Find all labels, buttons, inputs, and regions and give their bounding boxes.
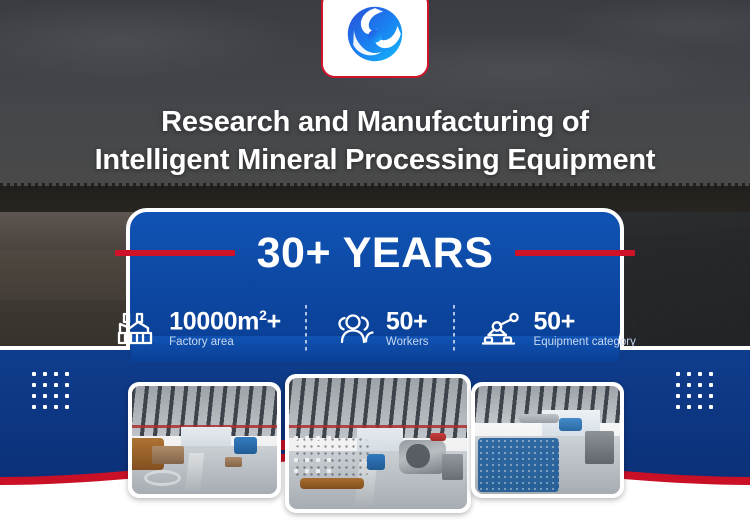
dot bbox=[698, 394, 702, 398]
workshop-photo-center[interactable] bbox=[285, 374, 471, 513]
dot bbox=[43, 405, 47, 409]
dot bbox=[65, 394, 69, 398]
years-rule-left bbox=[115, 250, 235, 256]
stat-workers-text: 50+ Workers bbox=[386, 308, 429, 350]
dot bbox=[709, 405, 713, 409]
dot bbox=[698, 383, 702, 387]
dot bbox=[54, 372, 58, 376]
workshop-photo-left[interactable] bbox=[128, 382, 281, 498]
years-banner: 30+ YEARS bbox=[0, 225, 750, 281]
dot bbox=[687, 394, 691, 398]
dot bbox=[43, 372, 47, 376]
stat-divider-1 bbox=[305, 305, 307, 353]
dot bbox=[676, 394, 680, 398]
stat-equipment-category: 50+ Equipment category bbox=[479, 308, 636, 350]
dot bbox=[676, 383, 680, 387]
dot bbox=[709, 383, 713, 387]
dot bbox=[709, 372, 713, 376]
factory-icon bbox=[114, 309, 160, 349]
dot-grid-right bbox=[676, 372, 720, 408]
stat-factory-text: 10000m2+ Factory area bbox=[169, 308, 281, 350]
stats-row: 10000m2+ Factory area 50+ Workers bbox=[0, 300, 750, 358]
dot bbox=[54, 383, 58, 387]
robot-arm-icon bbox=[479, 309, 525, 349]
dot bbox=[676, 372, 680, 376]
dot bbox=[32, 372, 36, 376]
workshop-photo-center-image bbox=[289, 378, 467, 509]
dot bbox=[687, 405, 691, 409]
dot bbox=[54, 405, 58, 409]
stat-equipment-text: 50+ Equipment category bbox=[534, 308, 636, 350]
dot bbox=[32, 405, 36, 409]
years-label: 30+ YEARS bbox=[257, 232, 494, 275]
dot-grid-left bbox=[32, 372, 76, 408]
dot bbox=[65, 383, 69, 387]
headline-line-2: Intelligent Mineral Processing Equipment bbox=[0, 142, 750, 180]
workers-group-icon bbox=[331, 309, 377, 349]
workshop-photo-right[interactable] bbox=[471, 382, 624, 498]
stat-equipment-value: 50+ bbox=[534, 308, 636, 334]
blue-swirl-vortex-logo bbox=[341, 0, 409, 68]
dot bbox=[43, 383, 47, 387]
company-logo-badge[interactable] bbox=[321, 0, 429, 78]
dot bbox=[65, 405, 69, 409]
dot bbox=[32, 394, 36, 398]
stat-factory-label: Factory area bbox=[169, 335, 281, 349]
stat-equipment-label: Equipment category bbox=[534, 335, 636, 349]
dot bbox=[698, 372, 702, 376]
page-title: Research and Manufacturing of Intelligen… bbox=[0, 104, 750, 180]
stat-workers-value: 50+ bbox=[386, 308, 429, 334]
stat-factory-area: 10000m2+ Factory area bbox=[114, 308, 281, 350]
stat-workers-label: Workers bbox=[386, 335, 429, 349]
dot bbox=[676, 405, 680, 409]
dot bbox=[43, 394, 47, 398]
stat-factory-value: 10000m2+ bbox=[169, 308, 281, 334]
workshop-photo-left-image bbox=[132, 386, 277, 494]
workshop-photo-right-image bbox=[475, 386, 620, 494]
dot bbox=[687, 372, 691, 376]
dot bbox=[709, 394, 713, 398]
infographic-banner: Research and Manufacturing of Intelligen… bbox=[0, 0, 750, 527]
dot bbox=[65, 372, 69, 376]
years-rule-right bbox=[515, 250, 635, 256]
headline-line-1: Research and Manufacturing of bbox=[161, 106, 589, 138]
stat-workers: 50+ Workers bbox=[331, 308, 429, 350]
stat-divider-2 bbox=[453, 305, 455, 353]
dot bbox=[54, 394, 58, 398]
dot bbox=[687, 383, 691, 387]
dot bbox=[698, 405, 702, 409]
dot bbox=[32, 383, 36, 387]
